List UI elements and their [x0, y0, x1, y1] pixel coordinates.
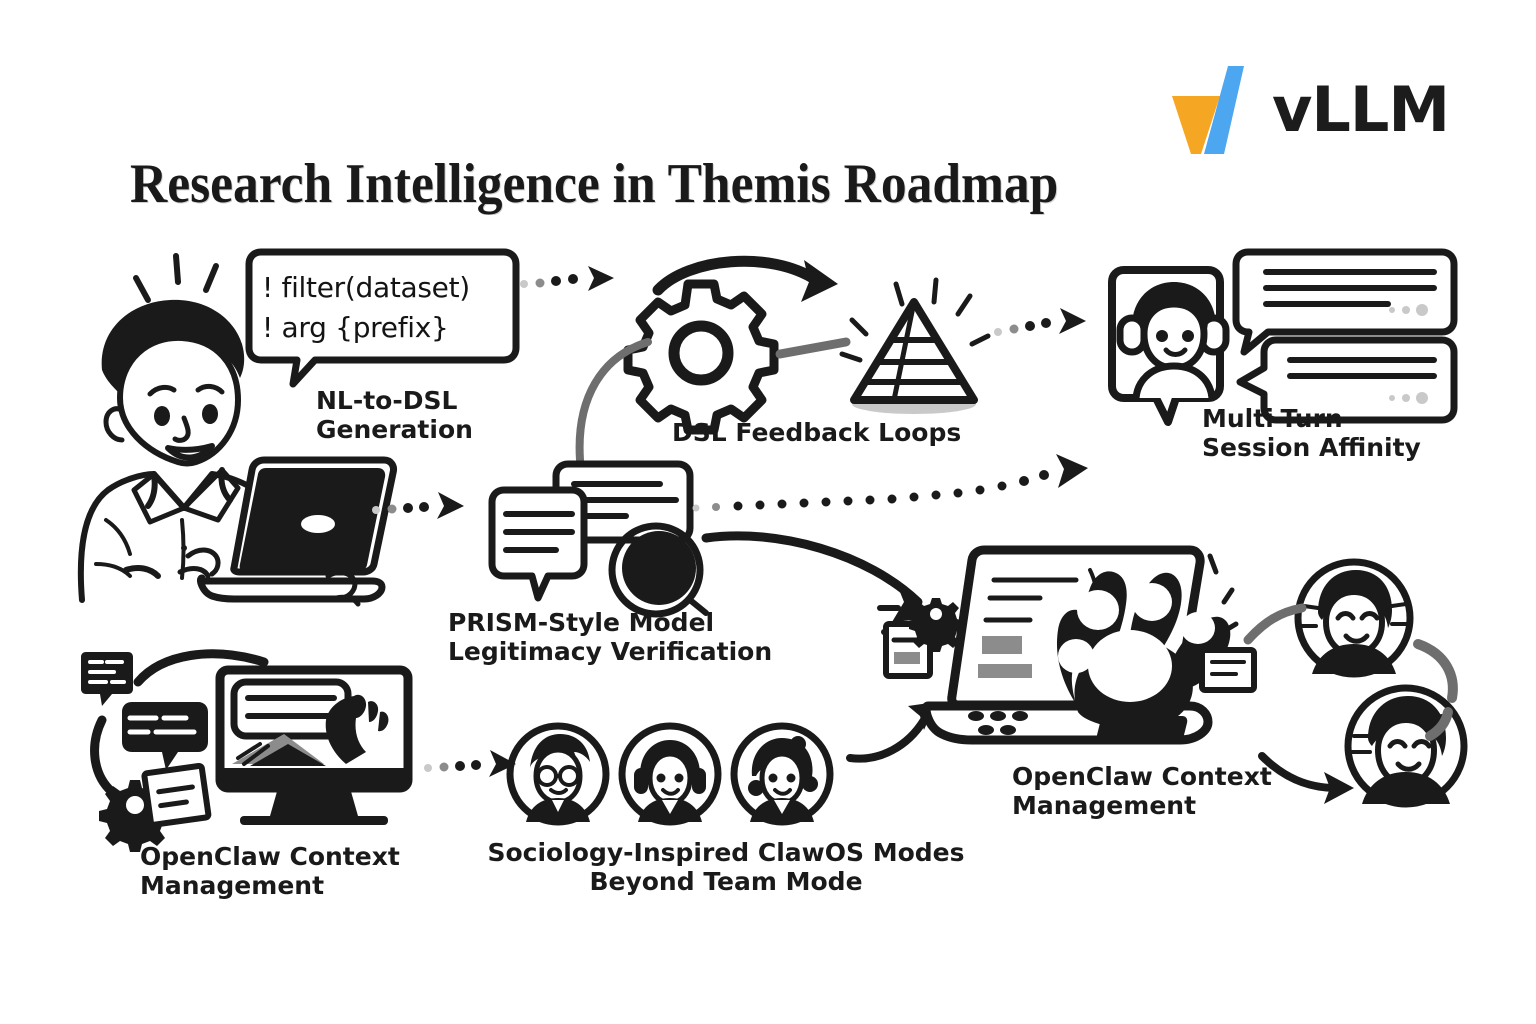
laptop-claw-icon: [880, 528, 1260, 758]
arrow-laptop-to-prism: [372, 482, 482, 530]
held-laptop-icon: [178, 452, 398, 612]
label-nl-to-dsl: NL-to-DSL Generation: [316, 386, 546, 444]
vllm-logo: vLLM: [1168, 62, 1458, 158]
label-openclaw-context-left: OpenClaw Context Management: [140, 842, 460, 900]
pyramid-icon: [818, 262, 998, 422]
vllm-logo-text: vLLM: [1272, 79, 1449, 141]
label-openclaw-context-right: OpenClaw Context Management: [1012, 762, 1312, 820]
headset-person-chat-icon: [1098, 248, 1458, 428]
label-clawos-modes: Sociology-Inspired ClawOS Modes Beyond T…: [466, 838, 986, 896]
three-avatars-icon: [504, 722, 844, 832]
vllm-logo-mark: [1168, 66, 1258, 154]
arrow-pyramid-to-session: [994, 300, 1104, 350]
roadmap-infographic: vLLM Research Intelligence in Themis Roa…: [0, 0, 1536, 1024]
chat-check-badge-icon: [476, 458, 726, 618]
page-title: Research Intelligence in Themis Roadmap: [130, 155, 1058, 214]
label-dsl-feedback-loops: DSL Feedback Loops: [672, 418, 1012, 447]
arrow-laptop-to-gear: [540, 320, 660, 480]
label-multi-turn-session-affinity: Multi-Turn Session Affinity: [1202, 404, 1502, 462]
arrow-prism-to-session: [690, 452, 1110, 522]
label-prism-verification: PRISM-Style Model Legitimacy Verificatio…: [448, 608, 788, 666]
dsl-code-text: ! filter(dataset) ! arg {prefix}: [262, 268, 507, 348]
arrow-openclaw-to-avatar-top: [1244, 596, 1314, 656]
arrow-avatar-top-to-bottom: [1408, 640, 1488, 740]
monitor-chat-gear-icon: [82, 640, 422, 840]
